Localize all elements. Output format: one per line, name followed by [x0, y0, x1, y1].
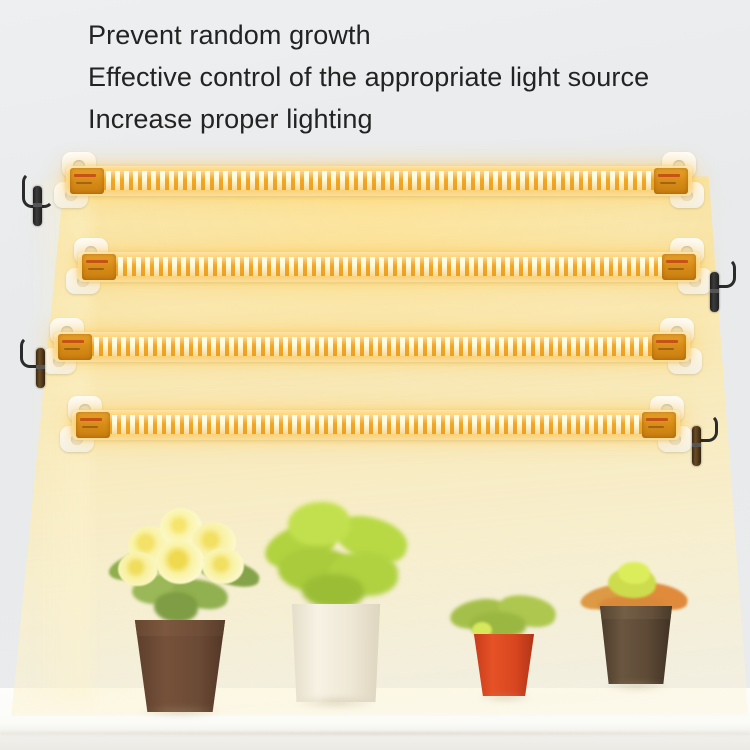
pot-shadow	[138, 705, 224, 718]
flower	[118, 552, 158, 586]
pot-terracotta	[472, 634, 536, 696]
plant-small-leafy	[448, 588, 564, 712]
led-strip-1	[40, 152, 718, 208]
led-emitter-row	[76, 415, 676, 434]
plant-fern	[262, 492, 410, 710]
led-strip-4	[46, 396, 706, 452]
led-strip-3	[28, 318, 716, 374]
product-scene: Prevent random growth Effective control …	[0, 0, 750, 750]
flower	[202, 548, 244, 584]
pot-brown	[132, 620, 228, 712]
pot-shadow	[294, 696, 378, 709]
driver-module	[654, 168, 688, 194]
driver-module	[652, 334, 686, 360]
led-emitter-row	[58, 337, 686, 356]
pot-cream	[290, 604, 382, 702]
pot-dark-square	[600, 606, 672, 684]
headline-line-3: Increase proper lighting	[88, 98, 738, 140]
flower	[156, 540, 204, 584]
pot-shadow	[604, 680, 670, 692]
driver-module	[70, 168, 104, 194]
headline-line-2: Effective control of the appropriate lig…	[88, 56, 738, 98]
plant-succulent	[578, 562, 698, 712]
led-emitter-row	[82, 257, 696, 276]
driver-module	[82, 254, 116, 280]
barrel-connector-icon	[36, 348, 45, 388]
led-emitter-row	[70, 171, 688, 190]
barrel-connector-icon	[710, 272, 719, 312]
driver-module	[662, 254, 696, 280]
driver-module	[642, 412, 676, 438]
plant-yellow-flowers	[110, 500, 260, 712]
barrel-connector-icon	[33, 186, 42, 226]
pot-shadow	[476, 692, 534, 703]
foliage	[302, 574, 364, 608]
headline-block: Prevent random growth Effective control …	[88, 14, 738, 140]
driver-module	[76, 412, 110, 438]
succulent-core	[618, 562, 650, 584]
pot-rim	[130, 620, 230, 636]
driver-module	[58, 334, 92, 360]
barrel-connector-icon	[692, 426, 701, 466]
headline-line-1: Prevent random growth	[88, 14, 738, 56]
foliage	[154, 592, 198, 622]
led-strip-2	[52, 238, 726, 294]
pot-rim	[597, 606, 675, 619]
